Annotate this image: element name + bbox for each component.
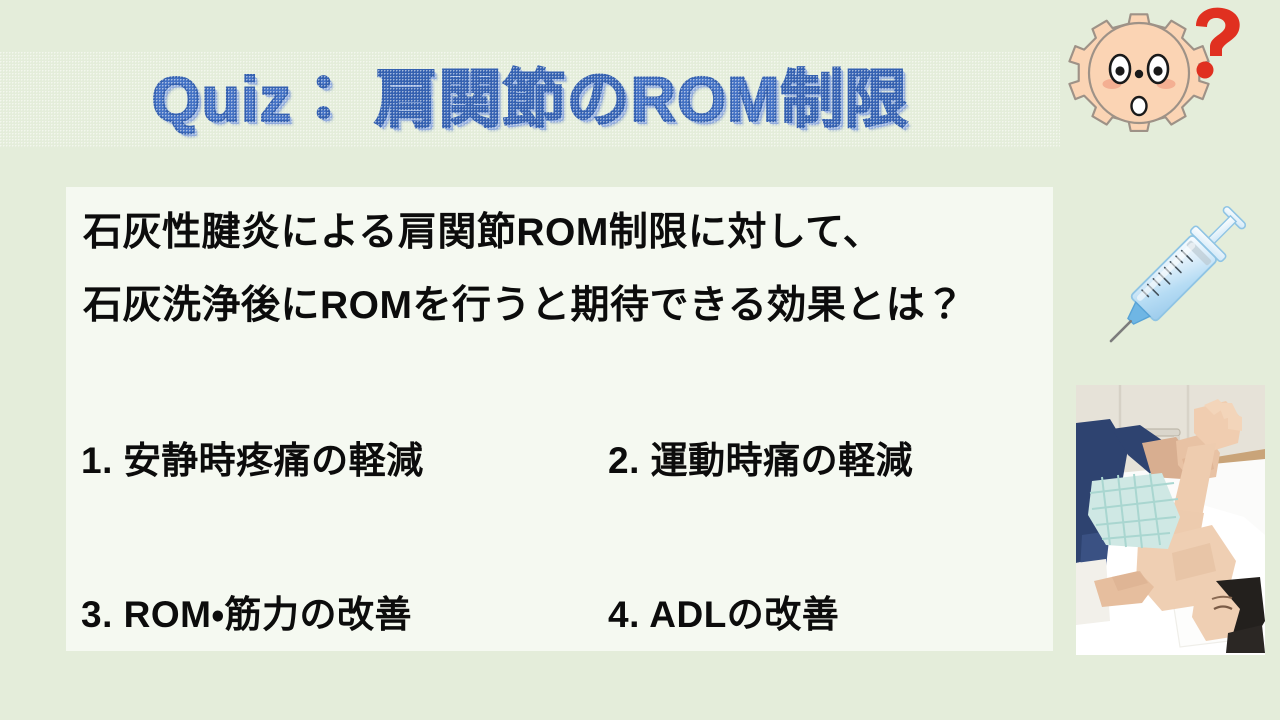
page-title: Quiz： 肩関節のROM制限: [152, 69, 909, 132]
quiz-slide: Quiz： 肩関節のROM制限 石灰性腱炎による肩関節ROM制限に対して、 石灰…: [0, 0, 1280, 720]
answer-option-4[interactable]: 4. ADLの改善: [608, 596, 839, 633]
answer-option-3[interactable]: 3. ROM・筋力の改善: [81, 596, 412, 633]
question-panel: 石灰性腱炎による肩関節ROM制限に対して、 石灰洗浄後にROMを行うと期待できる…: [66, 187, 1053, 651]
answer-option-1[interactable]: 1. 安静時疼痛の軽減: [81, 442, 424, 479]
syringe-icon: [1078, 178, 1274, 374]
title-area: Quiz： 肩関節のROM制限: [0, 52, 1060, 148]
question-mark-icon: [1184, 4, 1254, 82]
shoulder-rom-therapy-photo: [1076, 385, 1265, 655]
question-line-2: 石灰洗浄後にROMを行うと期待できる効果とは？: [83, 286, 965, 325]
answer-option-2[interactable]: 2. 運動時痛の軽減: [608, 442, 913, 479]
question-line-1: 石灰性腱炎による肩関節ROM制限に対して、: [83, 213, 882, 252]
